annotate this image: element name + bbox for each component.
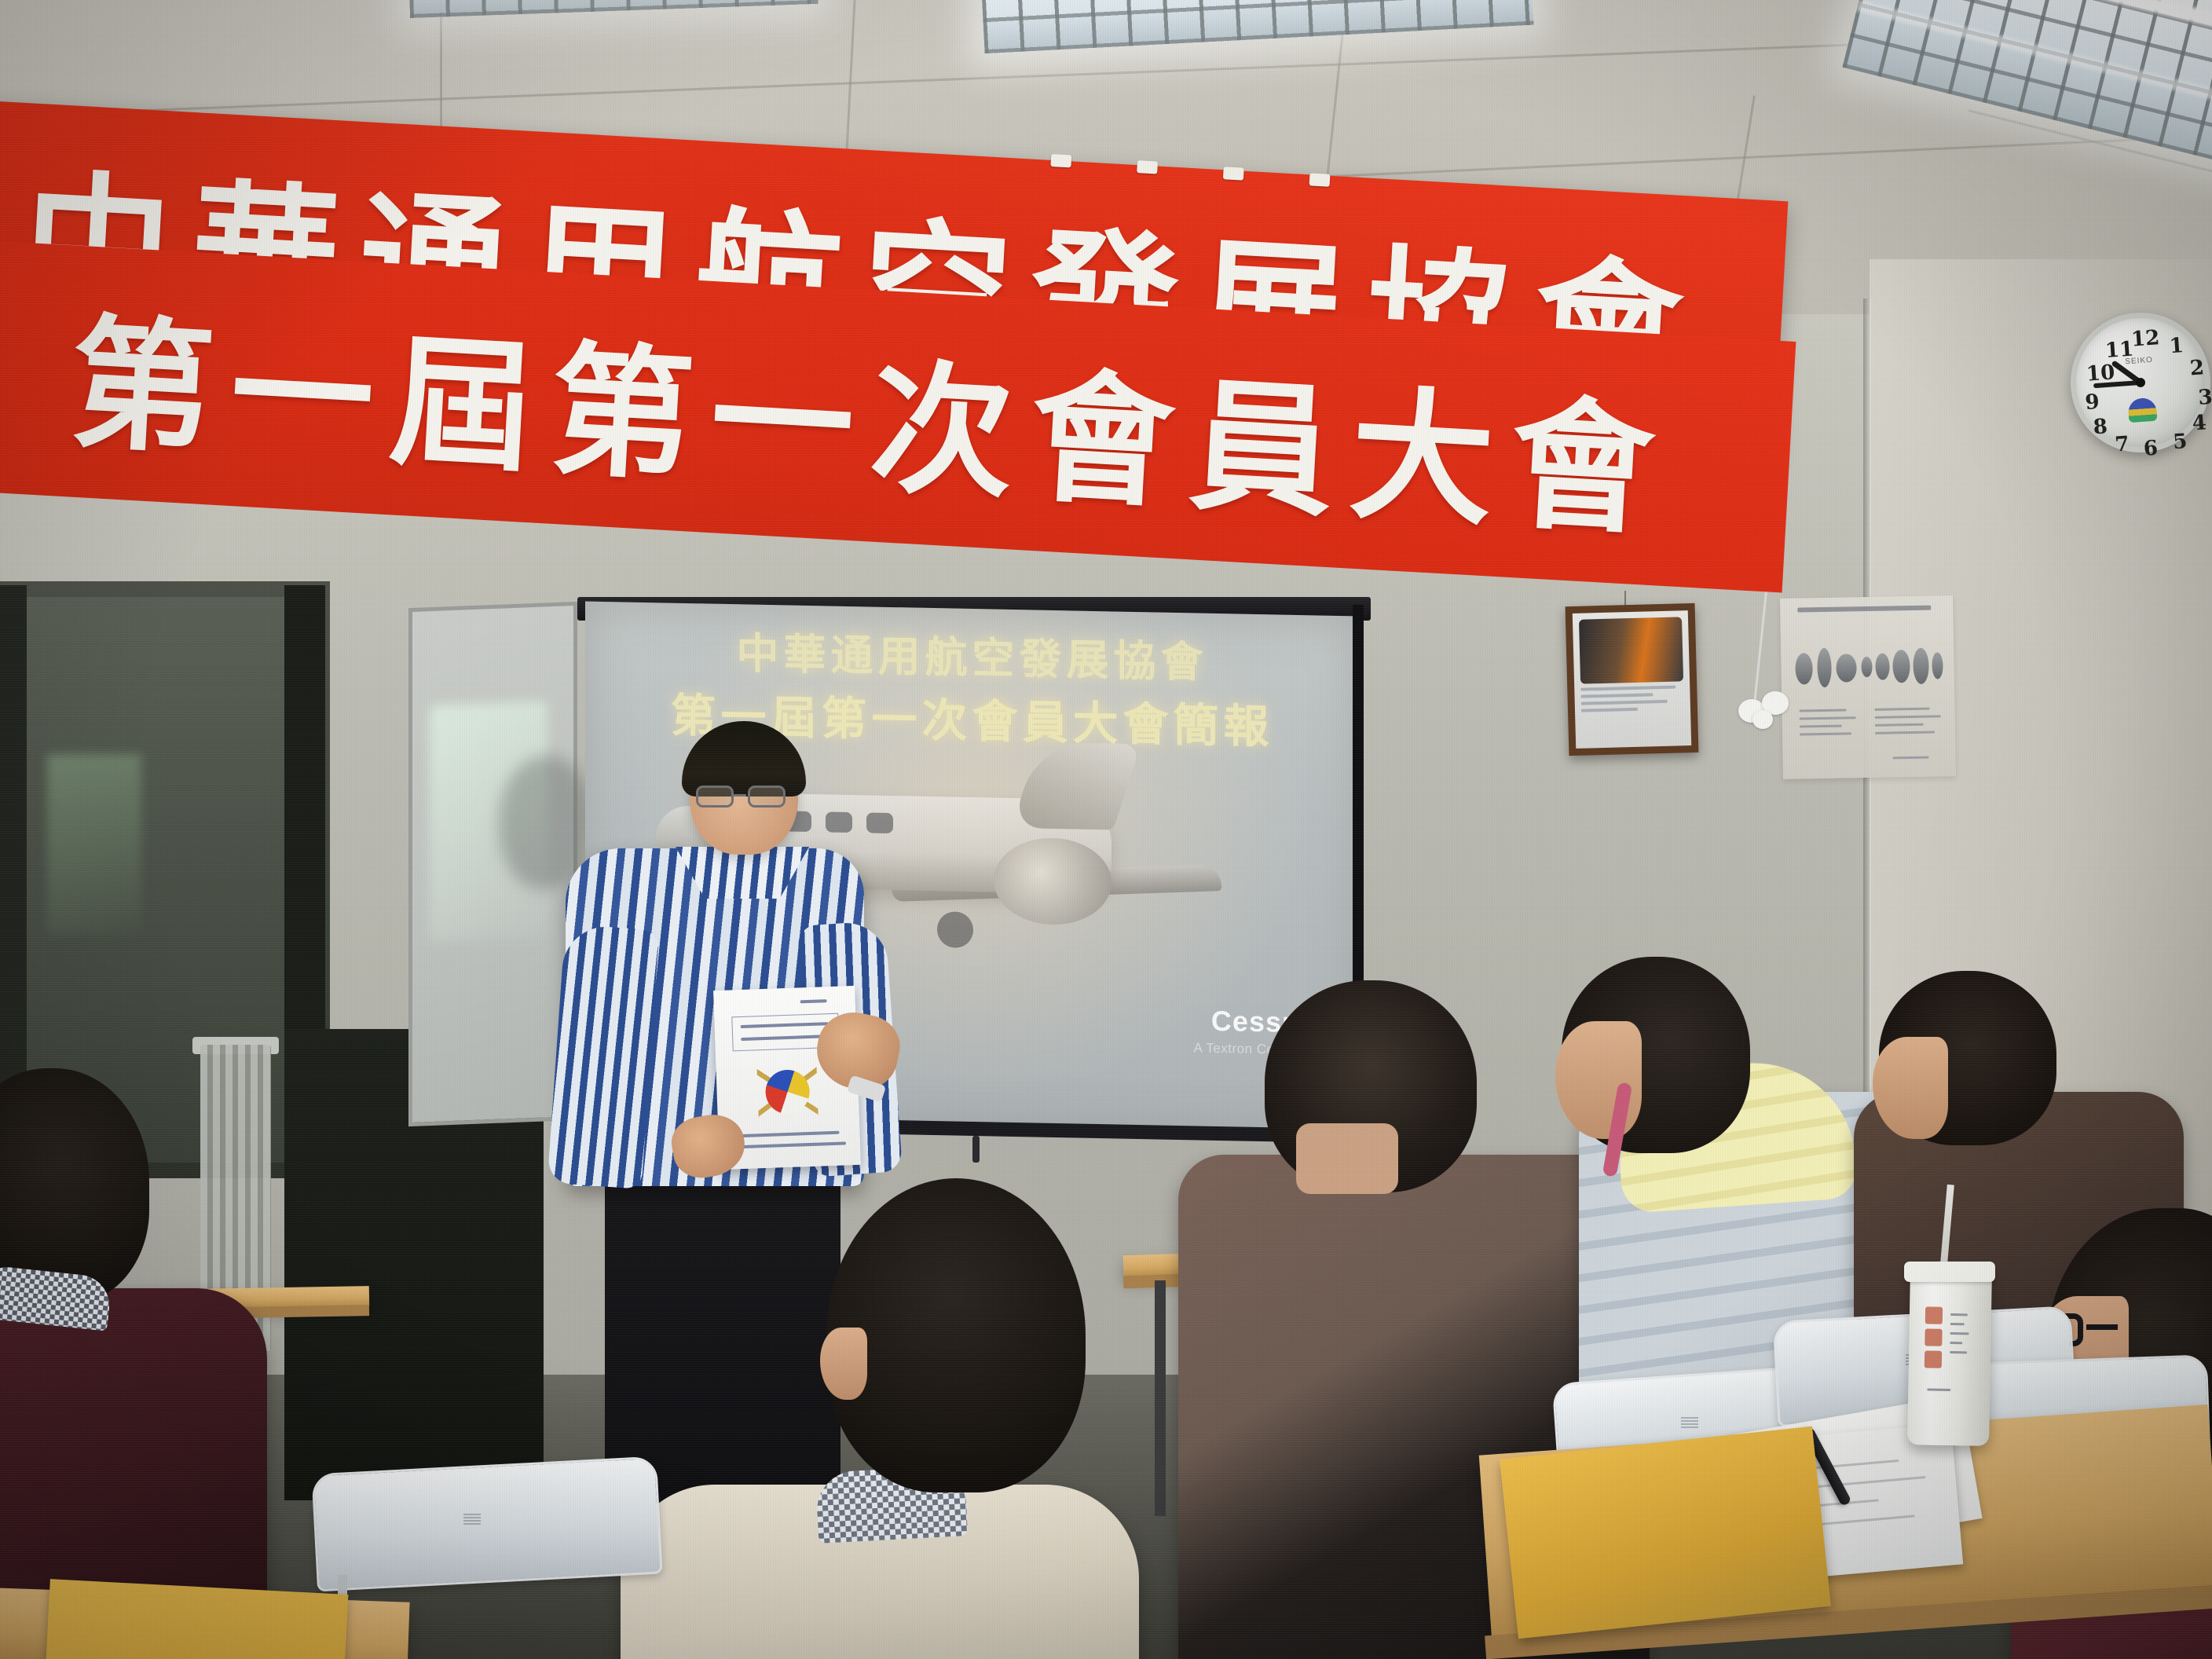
clock-face-logo (2127, 397, 2157, 422)
attendee-brown-neck (1296, 1123, 1398, 1194)
table-mid-right-leg-1 (1155, 1280, 1166, 1516)
clock-number-5: 5 (2167, 430, 2192, 455)
white-ribbon-bow (1738, 691, 1790, 735)
ceiling-light-right (1842, 0, 2212, 189)
cup-lid (1904, 1262, 1995, 1282)
drink-cup[interactable] (1907, 1272, 1992, 1446)
clock-number-2: 2 (2185, 356, 2210, 381)
ceiling-light-center (980, 0, 1533, 53)
presenter-left-arm (548, 924, 660, 1189)
turbine-exploded-diagram (1795, 641, 1945, 690)
clock-number-1: 1 (2164, 334, 2189, 359)
engine-diagram-poster (1780, 595, 1956, 779)
clock-number-12: 12 (2130, 327, 2155, 352)
whiteboard (408, 602, 577, 1126)
clock-number-6: 6 (2138, 436, 2163, 461)
clock-number-7: 7 (2109, 432, 2134, 457)
screen-pull-handle[interactable] (972, 1136, 980, 1163)
meeting-room-photo: 中華通用航空發展協會 第一屆第一次會員大會簡報 Cessna A Textron… (0, 0, 2212, 1659)
framed-engine-poster (1566, 603, 1699, 756)
yellow-envelope[interactable] (1500, 1426, 1831, 1639)
engine-photo (1579, 617, 1683, 683)
clock-number-11: 11 (2104, 338, 2130, 363)
picture-hook (1624, 591, 1626, 606)
eyeglasses-icon (696, 786, 792, 809)
poster-title-bar (1797, 606, 1931, 613)
clock-number-8: 8 (2088, 415, 2113, 440)
clock-number-9: 9 (2080, 390, 2105, 415)
clock-number-3: 3 (2193, 385, 2212, 410)
cup-print-art (1922, 1306, 1969, 1409)
ceiling-light-topleft (407, 0, 819, 18)
window-reflection (47, 754, 141, 935)
clock-center-pin (2136, 378, 2146, 388)
